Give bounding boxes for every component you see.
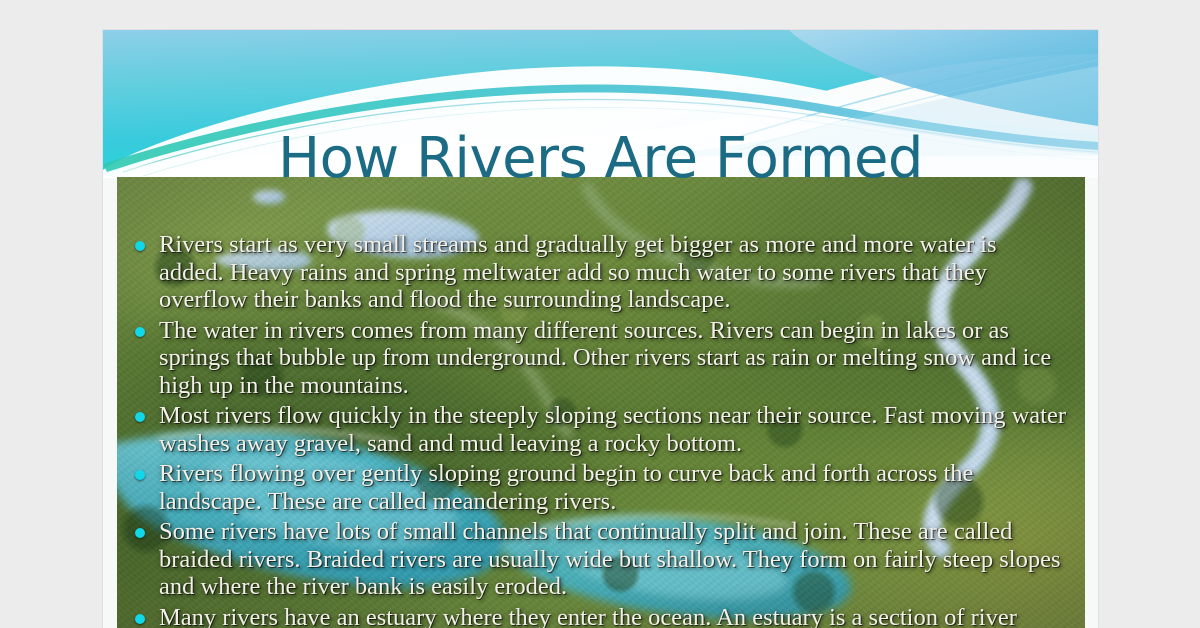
list-item-text: Rivers start as very small streams and g… — [159, 231, 1067, 314]
bullet-dot-icon — [135, 528, 145, 538]
list-item-text: Many rivers have an estuary where they e… — [159, 604, 1067, 628]
list-item: Rivers flowing over gently sloping groun… — [135, 460, 1067, 515]
list-item-text: Most rivers flow quickly in the steeply … — [159, 402, 1067, 457]
page-title: How Rivers Are Formed — [103, 128, 1098, 190]
bullet-list: Rivers start as very small streams and g… — [117, 177, 1085, 628]
list-item: The water in rivers comes from many diff… — [135, 317, 1067, 400]
bullet-dot-icon — [135, 241, 145, 251]
list-item-text: The water in rivers comes from many diff… — [159, 317, 1067, 400]
bullet-dot-icon — [135, 470, 145, 480]
list-item: Most rivers flow quickly in the steeply … — [135, 402, 1067, 457]
list-item: Many rivers have an estuary where they e… — [135, 604, 1067, 628]
slide-background-photo: Rivers start as very small streams and g… — [117, 177, 1085, 628]
list-item-text: Rivers flowing over gently sloping groun… — [159, 460, 1067, 515]
bullet-dot-icon — [135, 412, 145, 422]
presentation-slide: How Rivers Are Formed — [103, 30, 1098, 628]
bullet-dot-icon — [135, 614, 145, 624]
bullet-dot-icon — [135, 327, 145, 337]
list-item-text: Some rivers have lots of small channels … — [159, 518, 1067, 601]
list-item: Some rivers have lots of small channels … — [135, 518, 1067, 601]
list-item: Rivers start as very small streams and g… — [135, 231, 1067, 314]
